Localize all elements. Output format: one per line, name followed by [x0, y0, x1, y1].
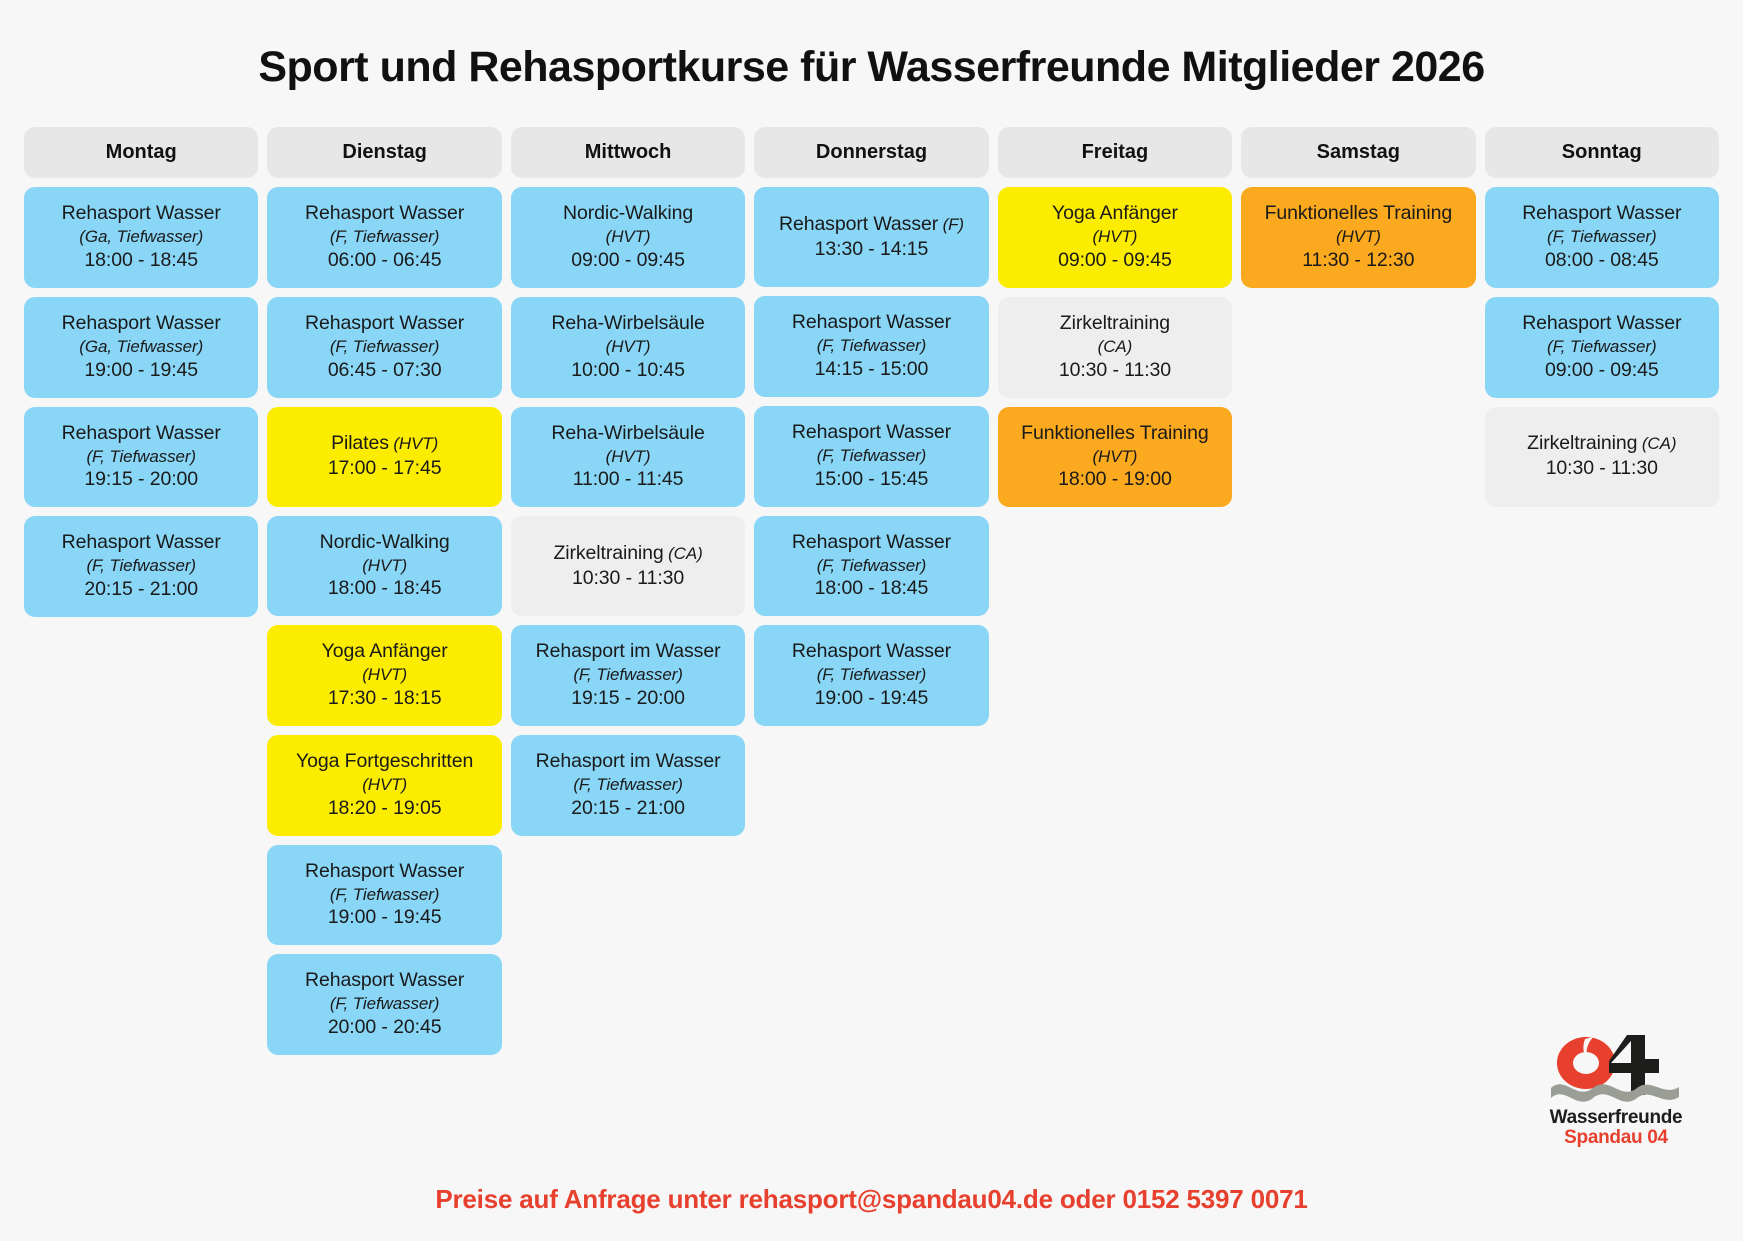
course-name: Funktionelles Training	[1249, 201, 1467, 226]
course-card[interactable]: Reha-Wirbelsäule(HVT)10:00 - 10:45	[511, 297, 745, 398]
course-name: Rehasport Wasser	[275, 311, 493, 336]
course-name: Rehasport Wasser	[762, 530, 980, 555]
day-header-donnerstag[interactable]: Donnerstag	[754, 127, 988, 178]
course-time: 19:00 - 19:45	[32, 358, 250, 383]
course-card[interactable]: Rehasport Wasser(F, Tiefwasser)19:15 - 2…	[24, 407, 258, 508]
course-time: 19:00 - 19:45	[762, 686, 980, 711]
course-name: Rehasport Wasser	[779, 213, 938, 235]
course-card[interactable]: Rehasport im Wasser(F, Tiefwasser)20:15 …	[511, 735, 745, 836]
course-name: Zirkeltraining	[1527, 432, 1637, 454]
course-location: (HVT)	[275, 555, 493, 577]
course-card[interactable]: Rehasport Wasser(F, Tiefwasser)15:00 - 1…	[754, 406, 988, 507]
course-card[interactable]: Zirkeltraining (CA)10:30 - 11:30	[511, 516, 745, 616]
course-name: Rehasport Wasser	[32, 530, 250, 555]
page-title: Sport und Rehasportkurse für Wasserfreun…	[24, 0, 1719, 127]
course-name: Rehasport Wasser	[762, 639, 980, 664]
course-time: 13:30 - 14:15	[762, 237, 980, 262]
course-location: (F, Tiefwasser)	[519, 664, 737, 686]
course-card[interactable]: Yoga Anfänger(HVT)09:00 - 09:45	[998, 187, 1232, 288]
course-location: (HVT)	[519, 446, 737, 468]
course-card[interactable]: Funktionelles Training(HVT)18:00 - 19:00	[998, 407, 1232, 508]
course-location: (F, Tiefwasser)	[275, 336, 493, 358]
course-location: (F, Tiefwasser)	[1493, 336, 1711, 358]
course-title-line: Rehasport Wasser (F)	[762, 212, 980, 237]
course-time: 06:00 - 06:45	[275, 248, 493, 273]
course-time: 10:30 - 11:30	[1493, 456, 1711, 481]
course-location: (F, Tiefwasser)	[32, 555, 250, 577]
course-name: Rehasport Wasser	[32, 311, 250, 336]
course-location: (F, Tiefwasser)	[519, 774, 737, 796]
course-card[interactable]: Zirkeltraining(CA)10:30 - 11:30	[998, 297, 1232, 398]
course-card[interactable]: Rehasport Wasser(F, Tiefwasser)06:00 - 0…	[267, 187, 501, 288]
course-location: (CA)	[1642, 434, 1677, 453]
day-column-mittwoch: MittwochNordic-Walking(HVT)09:00 - 09:45…	[511, 127, 745, 835]
day-header-montag[interactable]: Montag	[24, 127, 258, 178]
course-time: 19:00 - 19:45	[275, 905, 493, 930]
course-card[interactable]: Rehasport im Wasser(F, Tiefwasser)19:15 …	[511, 625, 745, 726]
course-name: Yoga Anfänger	[1006, 201, 1224, 226]
schedule-page: Sport und Rehasportkurse für Wasserfreun…	[0, 0, 1743, 1241]
week-grid: MontagRehasport Wasser(Ga, Tiefwasser)18…	[24, 127, 1719, 1055]
course-card[interactable]: Funktionelles Training(HVT)11:30 - 12:30	[1241, 187, 1475, 288]
course-location: (CA)	[1006, 336, 1224, 358]
course-title-line: Zirkeltraining (CA)	[519, 541, 737, 566]
day-header-freitag[interactable]: Freitag	[998, 127, 1232, 178]
course-card[interactable]: Rehasport Wasser(F, Tiefwasser)19:00 - 1…	[754, 625, 988, 726]
course-time: 18:00 - 18:45	[762, 576, 980, 601]
course-name: Rehasport Wasser	[32, 201, 250, 226]
course-card[interactable]: Rehasport Wasser(F, Tiefwasser)09:00 - 0…	[1485, 297, 1719, 398]
course-location: (F, Tiefwasser)	[275, 993, 493, 1015]
course-card[interactable]: Nordic-Walking(HVT)18:00 - 18:45	[267, 516, 501, 617]
course-card[interactable]: Rehasport Wasser(F, Tiefwasser)18:00 - 1…	[754, 516, 988, 617]
footer-contact-note: Preise auf Anfrage unter rehasport@spand…	[0, 1184, 1743, 1215]
course-name: Zirkeltraining	[553, 542, 663, 564]
course-name: Rehasport Wasser	[275, 859, 493, 884]
course-location: (F, Tiefwasser)	[275, 884, 493, 906]
course-time: 11:30 - 12:30	[1249, 248, 1467, 273]
course-card[interactable]: Zirkeltraining (CA)10:30 - 11:30	[1485, 407, 1719, 507]
course-location: (F, Tiefwasser)	[1493, 226, 1711, 248]
course-location: (CA)	[668, 544, 703, 563]
day-column-freitag: FreitagYoga Anfänger(HVT)09:00 - 09:45Zi…	[998, 127, 1232, 507]
course-time: 20:15 - 21:00	[32, 577, 250, 602]
course-location: (HVT)	[275, 774, 493, 796]
course-name: Yoga Fortgeschritten	[275, 749, 493, 774]
course-name: Reha-Wirbelsäule	[519, 311, 737, 336]
course-title-line: Pilates (HVT)	[275, 431, 493, 456]
course-card[interactable]: Rehasport Wasser (F)13:30 - 14:15	[754, 187, 988, 287]
course-name: Rehasport im Wasser	[519, 749, 737, 774]
course-location: (HVT)	[519, 336, 737, 358]
course-time: 10:00 - 10:45	[519, 358, 737, 383]
course-card[interactable]: Rehasport Wasser(F, Tiefwasser)19:00 - 1…	[267, 845, 501, 946]
logo-mark-icon	[1541, 1033, 1691, 1109]
course-card[interactable]: Yoga Anfänger(HVT)17:30 - 18:15	[267, 625, 501, 726]
course-name: Rehasport Wasser	[32, 421, 250, 446]
course-time: 19:15 - 20:00	[32, 467, 250, 492]
course-location: (HVT)	[1249, 226, 1467, 248]
day-column-sonntag: SonntagRehasport Wasser(F, Tiefwasser)08…	[1485, 127, 1719, 506]
course-time: 17:30 - 18:15	[275, 686, 493, 711]
course-time: 19:15 - 20:00	[519, 686, 737, 711]
course-name: Rehasport Wasser	[762, 310, 980, 335]
course-name: Rehasport im Wasser	[519, 639, 737, 664]
course-time: 08:00 - 08:45	[1493, 248, 1711, 273]
course-time: 06:45 - 07:30	[275, 358, 493, 383]
course-name: Pilates	[331, 432, 389, 454]
course-card[interactable]: Yoga Fortgeschritten(HVT)18:20 - 19:05	[267, 735, 501, 836]
course-location: (Ga, Tiefwasser)	[32, 336, 250, 358]
course-location: (HVT)	[275, 664, 493, 686]
course-name: Rehasport Wasser	[1493, 311, 1711, 336]
course-card[interactable]: Rehasport Wasser(F, Tiefwasser)20:15 - 2…	[24, 516, 258, 617]
course-time: 17:00 - 17:45	[275, 456, 493, 481]
course-name: Rehasport Wasser	[275, 201, 493, 226]
course-location: (F, Tiefwasser)	[762, 445, 980, 467]
course-location: (F, Tiefwasser)	[275, 226, 493, 248]
course-location: (HVT)	[393, 434, 438, 453]
course-title-line: Zirkeltraining (CA)	[1493, 431, 1711, 456]
day-column-dienstag: DienstagRehasport Wasser(F, Tiefwasser)0…	[267, 127, 501, 1055]
course-name: Rehasport Wasser	[1493, 201, 1711, 226]
course-location: (F, Tiefwasser)	[762, 335, 980, 357]
course-name: Nordic-Walking	[275, 530, 493, 555]
course-card[interactable]: Rehasport Wasser(F, Tiefwasser)20:00 - 2…	[267, 954, 501, 1055]
course-name: Yoga Anfänger	[275, 639, 493, 664]
course-location: (HVT)	[519, 226, 737, 248]
course-location: (F, Tiefwasser)	[762, 664, 980, 686]
course-card[interactable]: Rehasport Wasser(Ga, Tiefwasser)18:00 - …	[24, 187, 258, 288]
day-header-mittwoch[interactable]: Mittwoch	[511, 127, 745, 178]
course-location: (F, Tiefwasser)	[32, 446, 250, 468]
course-time: 14:15 - 15:00	[762, 357, 980, 382]
logo-text-wasserfreunde: Wasserfreunde	[1541, 1107, 1691, 1129]
course-card[interactable]: Rehasport Wasser(Ga, Tiefwasser)19:00 - …	[24, 297, 258, 398]
course-time: 18:00 - 19:00	[1006, 467, 1224, 492]
logo-text-spandau: Spandau 04	[1541, 1127, 1691, 1149]
course-time: 20:00 - 20:45	[275, 1015, 493, 1040]
day-header-dienstag[interactable]: Dienstag	[267, 127, 501, 178]
course-time: 09:00 - 09:45	[1006, 248, 1224, 273]
day-column-samstag: SamstagFunktionelles Training(HVT)11:30 …	[1241, 127, 1475, 288]
course-time: 11:00 - 11:45	[519, 467, 737, 492]
course-card[interactable]: Pilates (HVT)17:00 - 17:45	[267, 407, 501, 507]
day-column-donnerstag: DonnerstagRehasport Wasser (F)13:30 - 14…	[754, 127, 988, 726]
course-location: (HVT)	[1006, 446, 1224, 468]
course-time: 20:15 - 21:00	[519, 796, 737, 821]
course-location: (Ga, Tiefwasser)	[32, 226, 250, 248]
course-card[interactable]: Rehasport Wasser(F, Tiefwasser)14:15 - 1…	[754, 296, 988, 397]
course-card[interactable]: Rehasport Wasser(F, Tiefwasser)06:45 - 0…	[267, 297, 501, 398]
course-name: Rehasport Wasser	[275, 968, 493, 993]
course-time: 10:30 - 11:30	[1006, 358, 1224, 383]
course-location: (F, Tiefwasser)	[762, 555, 980, 577]
course-time: 18:20 - 19:05	[275, 796, 493, 821]
course-time: 18:00 - 18:45	[32, 248, 250, 273]
day-header-sonntag[interactable]: Sonntag	[1485, 127, 1719, 178]
course-time: 10:30 - 11:30	[519, 566, 737, 591]
course-location: (F)	[943, 215, 964, 234]
course-name: Zirkeltraining	[1006, 311, 1224, 336]
course-time: 18:00 - 18:45	[275, 576, 493, 601]
course-name: Rehasport Wasser	[762, 420, 980, 445]
day-column-montag: MontagRehasport Wasser(Ga, Tiefwasser)18…	[24, 127, 258, 617]
course-name: Reha-Wirbelsäule	[519, 421, 737, 446]
course-card[interactable]: Reha-Wirbelsäule(HVT)11:00 - 11:45	[511, 407, 745, 508]
course-time: 09:00 - 09:45	[519, 248, 737, 273]
day-header-samstag[interactable]: Samstag	[1241, 127, 1475, 178]
course-location: (HVT)	[1006, 226, 1224, 248]
course-time: 09:00 - 09:45	[1493, 358, 1711, 383]
course-card[interactable]: Nordic-Walking(HVT)09:00 - 09:45	[511, 187, 745, 288]
course-time: 15:00 - 15:45	[762, 467, 980, 492]
course-name: Funktionelles Training	[1006, 421, 1224, 446]
course-name: Nordic-Walking	[519, 201, 737, 226]
course-card[interactable]: Rehasport Wasser(F, Tiefwasser)08:00 - 0…	[1485, 187, 1719, 288]
wasserfreunde-spandau-04-logo: Wasserfreunde Spandau 04	[1541, 1033, 1691, 1151]
